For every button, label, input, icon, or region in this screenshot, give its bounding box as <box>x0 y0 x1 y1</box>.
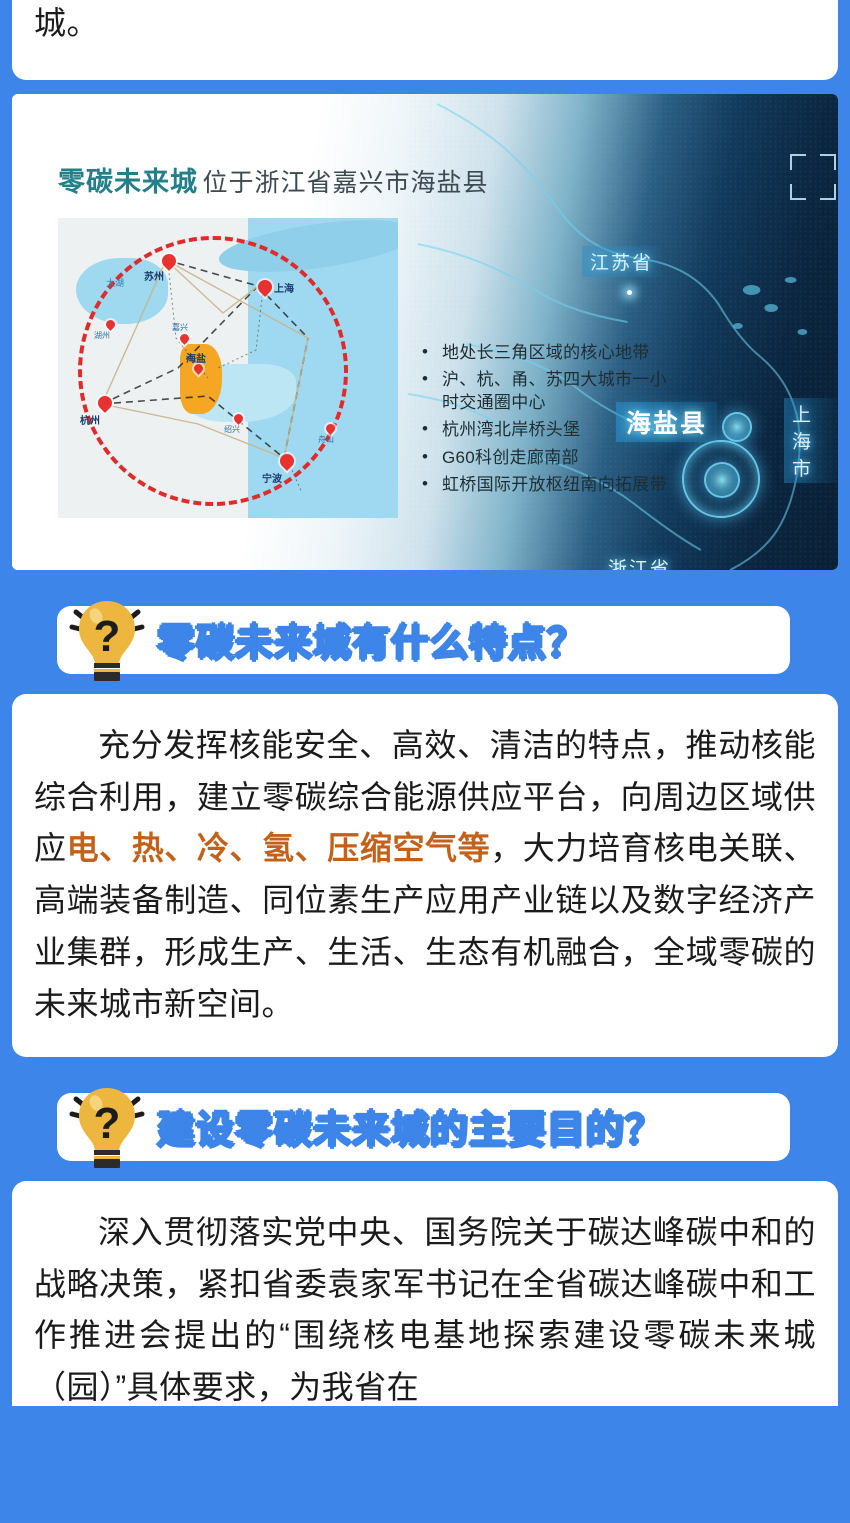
section-paragraph: 充分发挥核能安全、高效、清洁的特点，推动核能综合利用，建立零碳综合能源供应平台，… <box>34 720 816 1031</box>
map-label-hangzhou: 杭州 <box>80 412 100 427</box>
map-label-shanghai: 上海 <box>274 280 294 295</box>
regional-reference-map: 苏州 上海 杭州 宁波 海盐 嘉兴 湖州 绍兴 舟山 太湖 <box>58 218 398 518</box>
figure-title: 零碳未来城 位于浙江省嘉兴市海盐县 <box>58 160 488 199</box>
lightbulb-question-icon: ? <box>61 592 153 684</box>
location-figure: 零碳未来城 位于浙江省嘉兴市海盐县 <box>12 94 838 570</box>
section-heading-text: 零碳未来城有什么特点？ <box>157 606 586 674</box>
map-label-suzhou: 苏州 <box>144 268 164 283</box>
map-label-zhoushan: 舟山 <box>318 434 334 445</box>
map-label-taihu: 太湖 <box>106 276 124 289</box>
map-label-jiaxing: 嘉兴 <box>172 322 188 333</box>
digital-spark <box>627 290 632 295</box>
digital-radar-core <box>704 462 740 498</box>
digital-label-jiangsu: 江苏省 <box>582 246 661 277</box>
figure-bullet-item: 虹桥国际开放枢纽南向拓展带 <box>420 474 670 496</box>
article-page: 城。 <box>0 0 850 1515</box>
map-label-shaoxing: 绍兴 <box>224 424 240 435</box>
map-label-ningbo: 宁波 <box>262 470 282 485</box>
section-body-purpose: 深入贯彻落实党中央、国务院关于碳达峰碳中和的战略决策，紧扣省委袁家军书记在全省碳… <box>12 1181 838 1406</box>
digital-radar-marker <box>722 412 752 442</box>
figure-bullet-item: G60科创走廊南部 <box>420 447 670 469</box>
digital-label-zhejiang: 浙江省 <box>608 554 671 570</box>
figure-title-sub: 位于浙江省嘉兴市海盐县 <box>202 169 488 197</box>
section-body-features: 充分发挥核能安全、高效、清洁的特点，推动核能综合利用，建立零碳综合能源供应平台，… <box>12 694 838 1057</box>
top-continuation-card: 城。 <box>12 0 838 80</box>
map-label-huzhou: 湖州 <box>94 330 110 341</box>
top-continuation-text: 城。 <box>34 0 816 50</box>
svg-text:?: ? <box>94 1099 121 1148</box>
digital-reticle-icon <box>790 154 836 200</box>
lightbulb-question-icon: ? <box>61 1079 153 1171</box>
map-label-haiyan: 海盐 <box>186 350 206 365</box>
figure-title-brand: 零碳未来城 <box>58 167 198 197</box>
digital-label-shanghai: 上海市 <box>784 398 838 483</box>
section-paragraph: 深入贯彻落实党中央、国务院关于碳达峰碳中和的战略决策，紧扣省委袁家军书记在全省碳… <box>34 1207 816 1406</box>
svg-text:?: ? <box>94 612 121 661</box>
digital-label-haiyan-county: 海盐县 <box>616 402 717 442</box>
section-header-purpose: ? 建设零碳未来城的主要目的？ <box>57 1087 790 1165</box>
paragraph-segment: 深入贯彻落实党中央、国务院关于碳达峰碳中和的战略决策，紧扣省委袁家军书记在全省碳… <box>34 1214 816 1405</box>
paragraph-highlight: 电、热、冷、氢、压缩空气等 <box>67 830 491 866</box>
section-heading-text: 建设零碳未来城的主要目的？ <box>157 1093 664 1161</box>
figure-bullet-item: 地处长三角区域的核心地带 <box>420 342 670 364</box>
section-header-features: ? 零碳未来城有什么特点？ <box>57 600 790 678</box>
